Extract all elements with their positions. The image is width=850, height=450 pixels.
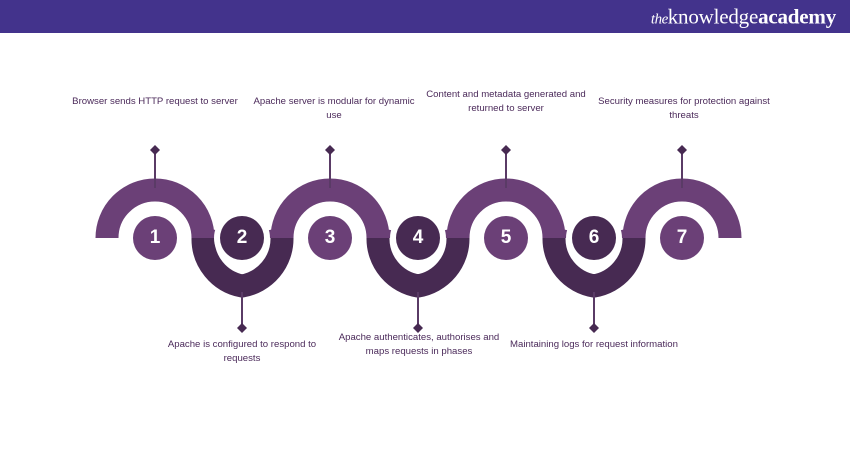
connector-diamond-7 (677, 145, 687, 155)
connector-diamond-3 (325, 145, 335, 155)
step-node-3[interactable]: 3 (308, 216, 352, 260)
brand-logo-knowledge: knowledge (668, 4, 758, 28)
step-label-7: Security measures for protection against… (598, 95, 770, 123)
brand-logo-the: the (651, 11, 668, 27)
connector-diamond-6 (589, 323, 599, 333)
step-label-6: Maintaining logs for request information (508, 338, 680, 352)
step-number: 5 (501, 227, 512, 249)
step-number: 2 (237, 227, 248, 249)
step-number: 7 (677, 227, 688, 249)
step-node-1[interactable]: 1 (133, 216, 177, 260)
connector-diamond-2 (237, 323, 247, 333)
connector-diamond-5 (501, 145, 511, 155)
step-label-1: Browser sends HTTP request to server (69, 95, 241, 109)
header-bar: theknowledgeacademy (0, 0, 850, 33)
connector-diamond-1 (150, 145, 160, 155)
step-node-2[interactable]: 2 (220, 216, 264, 260)
step-number: 6 (589, 227, 600, 249)
step-label-5: Content and metadata generated and retur… (420, 88, 592, 116)
step-number: 1 (150, 227, 161, 249)
process-flow-infographic: 1234567 Browser sends HTTP request to se… (0, 33, 850, 450)
step-node-5[interactable]: 5 (484, 216, 528, 260)
step-number: 3 (325, 227, 336, 249)
step-node-6[interactable]: 6 (572, 216, 616, 260)
step-node-7[interactable]: 7 (660, 216, 704, 260)
brand-logo-academy: academy (758, 4, 836, 28)
step-label-2: Apache is configured to respond to reque… (156, 338, 328, 366)
step-label-4: Apache authenticates, authorises and map… (333, 331, 505, 359)
step-number: 4 (413, 227, 424, 249)
brand-logo[interactable]: theknowledgeacademy (651, 4, 836, 29)
step-label-3: Apache server is modular for dynamic use (248, 95, 420, 123)
step-node-4[interactable]: 4 (396, 216, 440, 260)
